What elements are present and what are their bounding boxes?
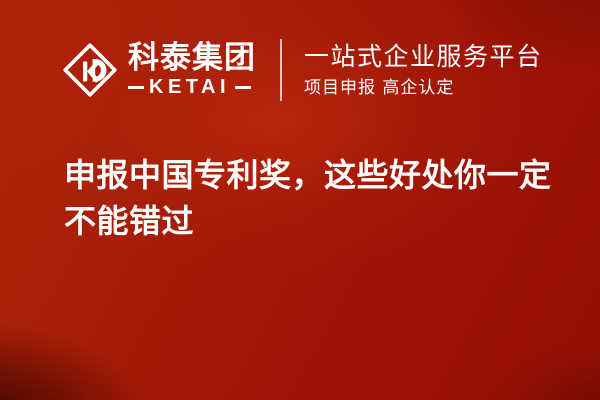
brand-name-cn: 科泰集团 (128, 42, 256, 75)
tagline-secondary: 项目申报 高企认定 (304, 78, 543, 98)
brand-name-en-row: KETAI (128, 77, 256, 98)
tagline-primary: 一站式企业服务平台 (304, 42, 543, 72)
brand-tagline: 一站式企业服务平台 项目申报 高企认定 (304, 38, 543, 102)
vertical-divider-icon (280, 39, 282, 101)
article-headline: 申报中国专利奖，这些好处你一定不能错过 (64, 152, 560, 244)
ketai-diamond-monogram-icon (62, 42, 118, 98)
brand-name-en: KETAI (149, 77, 230, 98)
rule-right-icon (235, 86, 251, 89)
brand-wordmark: 科泰集团 KETAI (128, 41, 256, 99)
rule-left-icon (128, 86, 144, 89)
brand-logo[interactable]: 科泰集团 KETAI (62, 34, 256, 106)
banner-header: 科泰集团 KETAI 一站式企业服务平台 项目申报 高企认定 (62, 34, 543, 106)
article-banner: 科泰集团 KETAI 一站式企业服务平台 项目申报 高企认定 申报中国专利奖，这… (0, 0, 600, 400)
